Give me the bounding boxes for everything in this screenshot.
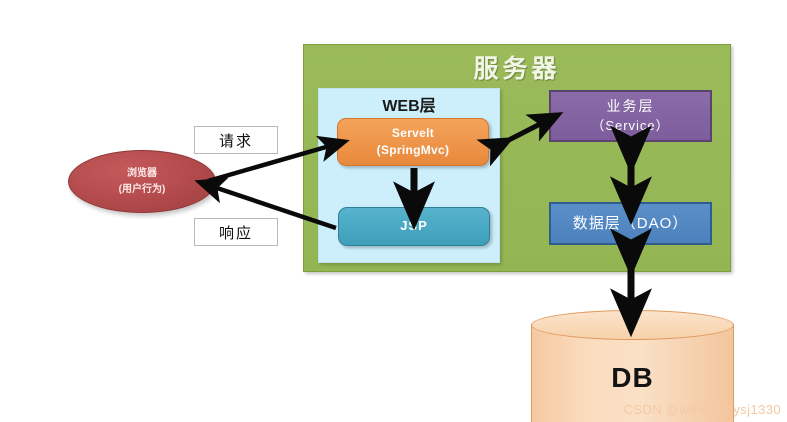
web-layer-title: WEB层	[318, 92, 500, 116]
node-service-layer-line1: 业务层	[607, 96, 655, 116]
node-browser-line1: 浏览器	[127, 166, 157, 182]
node-servlet-line1: Servelt	[392, 125, 434, 142]
node-database-label: DB	[531, 362, 734, 394]
watermark: CSDN @weixin_bysj1330	[624, 402, 781, 417]
node-browser-line2: (用户行为)	[119, 182, 166, 198]
flow-label-request: 请求	[194, 126, 278, 154]
node-browser: 浏览器 (用户行为)	[68, 150, 216, 213]
flow-label-response-text: 响应	[219, 222, 253, 243]
node-jsp-label: JSP	[400, 217, 428, 236]
node-service-layer-line2: （Service）	[591, 117, 669, 136]
node-data-layer: 数据层（DAO）	[549, 202, 712, 245]
node-jsp: JSP	[338, 207, 490, 246]
database-cylinder-top	[531, 310, 734, 340]
node-servlet: Servelt (SpringMvc)	[337, 118, 489, 166]
node-data-layer-label: 数据层（DAO）	[573, 213, 689, 235]
server-title: 服务器	[303, 49, 731, 85]
diagram-canvas: 服务器 WEB层 Servelt (SpringMvc) JSP 业务层 （Se…	[0, 0, 787, 420]
flow-label-request-text: 请求	[219, 130, 253, 151]
flow-label-response: 响应	[194, 218, 278, 246]
node-servlet-line2: (SpringMvc)	[377, 142, 450, 159]
node-service-layer: 业务层 （Service）	[549, 90, 712, 142]
